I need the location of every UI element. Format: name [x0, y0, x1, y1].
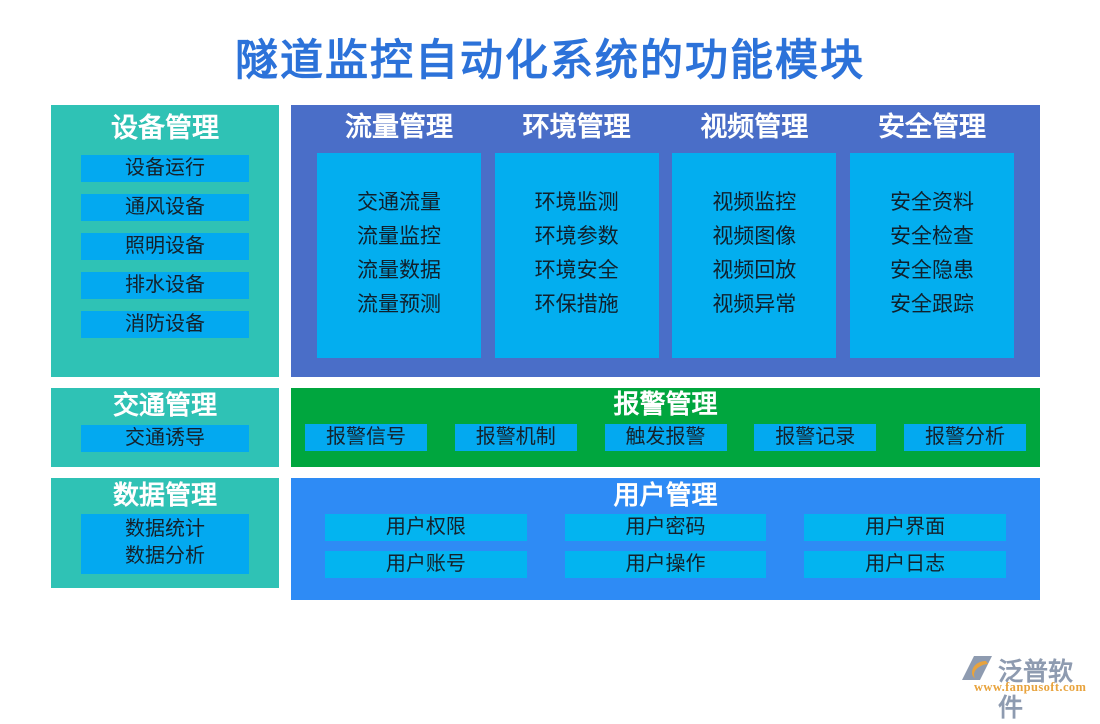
list-item[interactable]: 用户日志	[804, 551, 1006, 578]
list-item[interactable]: 视频回放	[672, 253, 836, 287]
list-item[interactable]: 交通流量	[317, 185, 481, 219]
video-management-title: 视频管理	[672, 113, 836, 143]
list-item[interactable]: 报警信号	[305, 424, 427, 451]
list-item[interactable]: 环境参数	[495, 219, 659, 253]
list-item[interactable]: 报警机制	[455, 424, 577, 451]
list-item[interactable]: 用户界面	[804, 514, 1006, 541]
video-management-card: 视频监控 视频图像 视频回放 视频异常	[672, 153, 836, 358]
list-item[interactable]: 安全跟踪	[850, 287, 1014, 321]
brand-logo: 泛普软件 www.fanpusoft.com	[960, 652, 1092, 696]
list-item[interactable]: 安全检查	[850, 219, 1014, 253]
alarm-management-title: 报警管理	[291, 391, 1040, 420]
list-item[interactable]: 环保措施	[495, 287, 659, 321]
list-item[interactable]: 通风设备	[81, 194, 249, 221]
equipment-management-panel: 设备管理 设备运行 通风设备 照明设备 排水设备 消防设备	[51, 105, 279, 377]
flow-management-column: 流量管理 交通流量 流量监控 流量数据 流量预测	[317, 105, 481, 377]
data-item-list: 数据统计 数据分析	[81, 514, 249, 574]
traffic-management-panel: 交通管理 交通诱导	[51, 388, 279, 467]
user-management-title: 用户管理	[291, 482, 1040, 511]
safety-management-column: 安全管理 安全资料 安全检查 安全隐患 安全跟踪	[850, 105, 1014, 377]
list-item[interactable]: 数据统计	[81, 516, 249, 543]
list-item[interactable]: 视频监控	[672, 185, 836, 219]
list-item[interactable]: 触发报警	[605, 424, 727, 451]
list-item[interactable]: 照明设备	[81, 233, 249, 260]
flow-management-card: 交通流量 流量监控 流量数据 流量预测	[317, 153, 481, 358]
equipment-item-list: 设备运行 通风设备 照明设备 排水设备 消防设备	[51, 155, 279, 338]
environment-management-title: 环境管理	[495, 113, 659, 143]
list-item[interactable]: 环境监测	[495, 185, 659, 219]
page-title: 隧道监控自动化系统的功能模块	[0, 26, 1100, 88]
operations-modules-panel: 流量管理 交通流量 流量监控 流量数据 流量预测 环境管理 环境监测 环境参数 …	[291, 105, 1040, 377]
data-management-panel: 数据管理 数据统计 数据分析	[51, 478, 279, 588]
environment-management-column: 环境管理 环境监测 环境参数 环境安全 环保措施	[495, 105, 659, 377]
list-item[interactable]: 用户权限	[325, 514, 527, 541]
list-item[interactable]: 交通诱导	[81, 425, 249, 452]
list-item[interactable]: 安全资料	[850, 185, 1014, 219]
traffic-management-title: 交通管理	[51, 392, 279, 421]
safety-management-card: 安全资料 安全检查 安全隐患 安全跟踪	[850, 153, 1014, 358]
list-item[interactable]: 报警记录	[754, 424, 876, 451]
list-item[interactable]: 报警分析	[904, 424, 1026, 451]
list-item[interactable]: 视频异常	[672, 287, 836, 321]
list-item[interactable]: 环境安全	[495, 253, 659, 287]
video-management-column: 视频管理 视频监控 视频图像 视频回放 视频异常	[672, 105, 836, 377]
environment-management-card: 环境监测 环境参数 环境安全 环保措施	[495, 153, 659, 358]
data-management-title: 数据管理	[51, 482, 279, 511]
list-item[interactable]: 安全隐患	[850, 253, 1014, 287]
fanpu-logo-icon	[960, 654, 994, 682]
list-item[interactable]: 用户密码	[565, 514, 767, 541]
brand-url: www.fanpusoft.com	[974, 680, 1086, 695]
user-management-panel: 用户管理 用户权限 用户密码 用户界面 用户账号 用户操作 用户日志	[291, 478, 1040, 600]
list-item[interactable]: 设备运行	[81, 155, 249, 182]
equipment-management-title: 设备管理	[51, 114, 279, 144]
list-item[interactable]: 用户账号	[325, 551, 527, 578]
list-item[interactable]: 流量监控	[317, 219, 481, 253]
list-item[interactable]: 消防设备	[81, 311, 249, 338]
alarm-management-panel: 报警管理 报警信号 报警机制 触发报警 报警记录 报警分析	[291, 388, 1040, 467]
list-item[interactable]: 用户操作	[565, 551, 767, 578]
list-item[interactable]: 视频图像	[672, 219, 836, 253]
alarm-item-list: 报警信号 报警机制 触发报警 报警记录 报警分析	[291, 420, 1040, 451]
flow-management-title: 流量管理	[317, 113, 481, 143]
user-item-grid: 用户权限 用户密码 用户界面 用户账号 用户操作 用户日志	[291, 511, 1040, 578]
list-item[interactable]: 数据分析	[81, 543, 249, 570]
list-item[interactable]: 流量预测	[317, 287, 481, 321]
list-item[interactable]: 流量数据	[317, 253, 481, 287]
list-item[interactable]: 排水设备	[81, 272, 249, 299]
safety-management-title: 安全管理	[850, 113, 1014, 143]
